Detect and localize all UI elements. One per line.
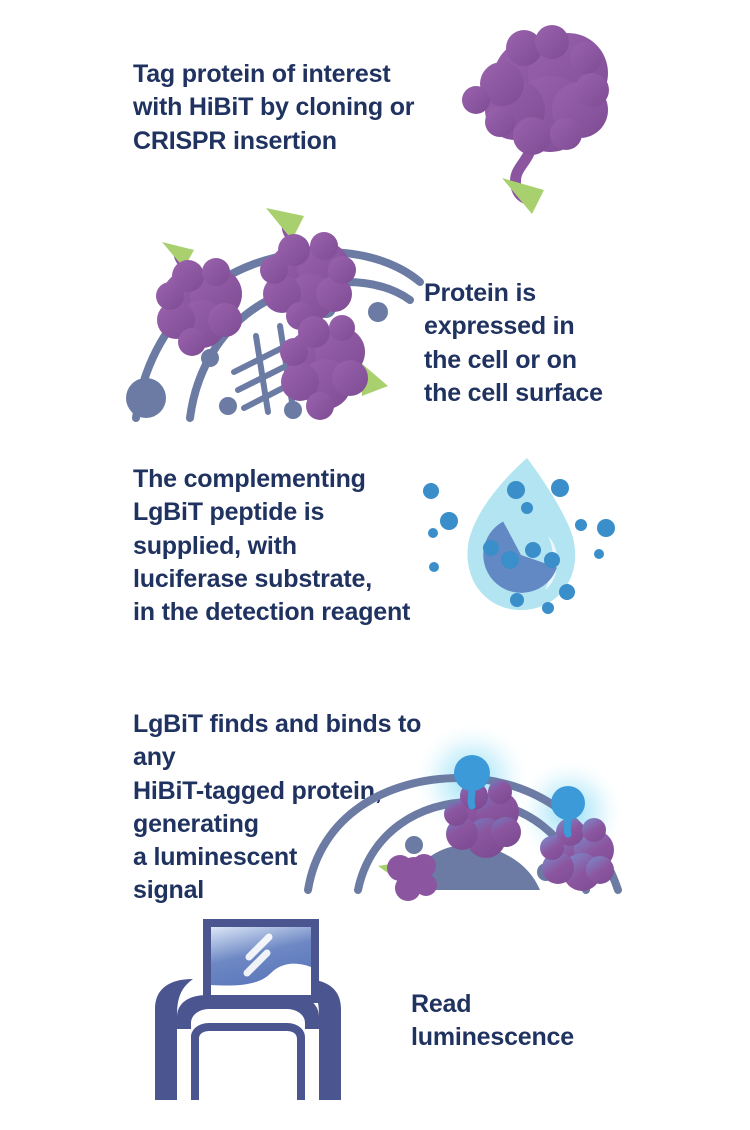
linker-tail [567, 818, 568, 834]
protein-blob [260, 208, 356, 330]
cell-membrane-expression-illustration [128, 190, 428, 420]
protein-blob [462, 25, 609, 155]
tagged-protein-illustration [440, 18, 640, 228]
protein-blob [156, 242, 242, 356]
protein-blob [378, 854, 437, 901]
step-5-caption: Read luminescence [411, 988, 641, 1055]
instrument-screen[interactable] [203, 919, 319, 1003]
hibit-tag-wedge [502, 178, 544, 214]
step-2-caption: Protein is expressed in the cell or on t… [424, 277, 654, 410]
luminometer-illustration [145, 905, 375, 1105]
step-1-caption: Tag protein of interest with HiBiT by cl… [133, 58, 453, 158]
detection-reagent-droplet-illustration [415, 450, 645, 635]
step-3-caption: The complementing LgBiT peptide is suppl… [133, 463, 463, 629]
linker-tail [471, 788, 472, 806]
luminescent-binding-illustration [300, 740, 630, 900]
